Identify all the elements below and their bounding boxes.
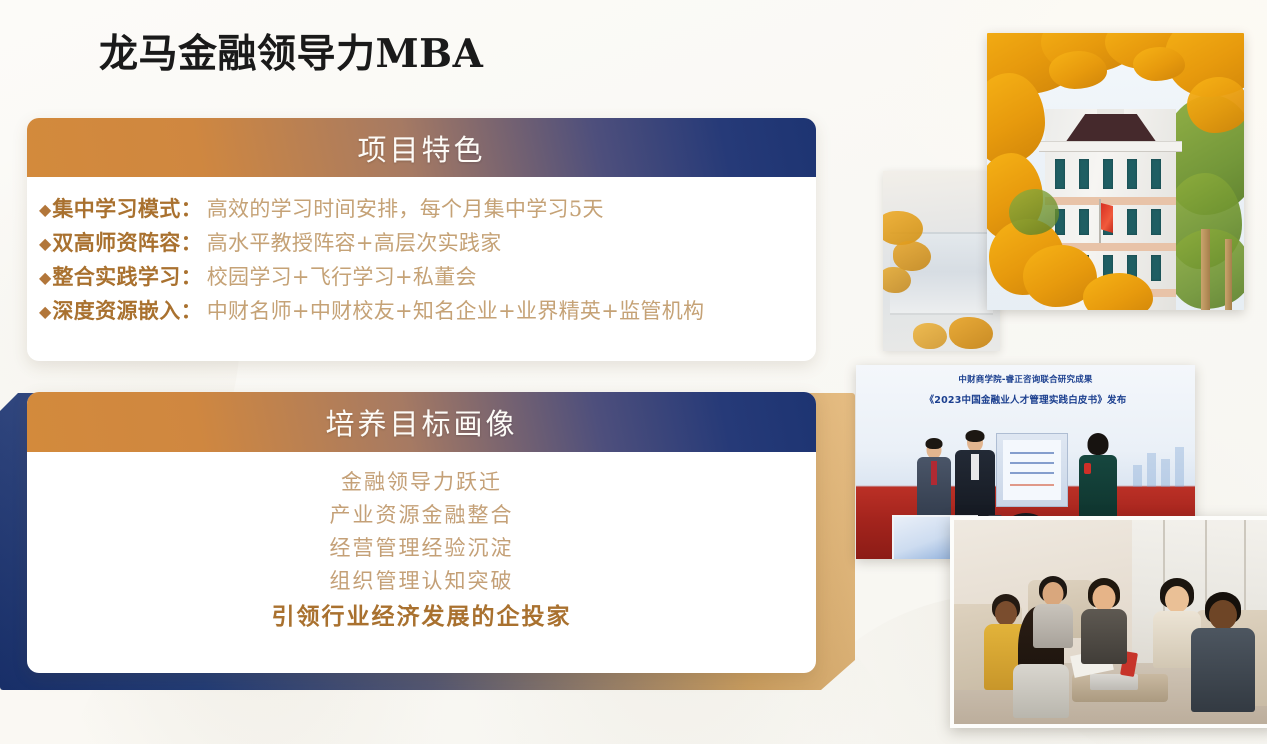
photo-detail: [883, 267, 911, 293]
photo-detail: [1079, 209, 1089, 235]
photo-detail: [1190, 592, 1256, 712]
list-item: ◆ 双高师资阵容 ： 高水平教授阵容+高层次实践家: [27, 227, 816, 261]
card-header-training-goals: 培养目标画像: [27, 392, 816, 452]
photo-detail: [883, 211, 923, 245]
photo-detail: [1099, 199, 1101, 243]
photo-detail: [1101, 203, 1113, 233]
photo-detail: [949, 317, 993, 349]
photo-detail: [1133, 439, 1185, 487]
photo-detail: [1187, 77, 1244, 133]
photo-detail: [1078, 433, 1118, 527]
photo-students-discussion: [950, 516, 1267, 728]
photo-detail: [1049, 51, 1107, 89]
photo-detail: [1080, 578, 1128, 664]
photo-detail: [1039, 141, 1182, 152]
bullet-label: 深度资源嵌入: [52, 295, 180, 325]
diamond-bullet-icon: ◆: [39, 202, 51, 218]
photo-detail: [954, 431, 996, 527]
list-item: ◆ 集中学习模式 ： 高效的学习时间安排，每个月集中学习5天: [27, 193, 816, 227]
slide-canvas: 龙马金融领导力MBA 项目特色 ◆ 集中学习模式 ： 高效的学习时间安排，每个月…: [0, 0, 1267, 744]
bullet-text: 高效的学习时间安排，每个月集中学习5天: [207, 193, 604, 223]
photo-detail: [1133, 47, 1185, 81]
feature-bullet-list: ◆ 集中学习模式 ： 高效的学习时间安排，每个月集中学习5天 ◆ 双高师资阵容 …: [27, 177, 816, 329]
photo-detail: [913, 323, 947, 349]
card-title: 项目特色: [357, 127, 485, 169]
photo-detail: [1201, 229, 1210, 310]
photo-detail: [1003, 440, 1061, 500]
photo-detail: [1151, 159, 1161, 189]
bullet-colon: ：: [181, 261, 202, 291]
card-body-program-features: ◆ 集中学习模式 ： 高效的学习时间安排，每个月集中学习5天 ◆ 双高师资阵容 …: [27, 177, 816, 329]
photo-detail: [1225, 239, 1232, 310]
photo-detail: [1151, 209, 1161, 235]
photo-detail: [1009, 189, 1059, 235]
ceremony-banner-line-2: 《2023中国金融业人才管理实践白皮书》发布: [856, 392, 1195, 406]
photo-detail: [996, 433, 1068, 507]
list-item: ◆ 深度资源嵌入 ： 中财名师+中财校友+知名企业+业界精英+监管机构: [27, 295, 816, 329]
photo-detail: [916, 437, 952, 527]
photo-campus-building: [987, 33, 1244, 310]
bullet-label: 整合实践学习: [52, 261, 180, 291]
diamond-bullet-icon: ◆: [39, 270, 51, 286]
card-header-program-features: 项目特色: [27, 118, 816, 177]
bullet-colon: ：: [181, 227, 202, 257]
bullet-label: 集中学习模式: [52, 193, 180, 223]
page-title: 龙马金融领导力MBA: [99, 28, 483, 81]
list-item-emphasis: 引领行业经济发展的企投家: [27, 598, 816, 636]
card-body-training-goals: 金融领导力跃迁 产业资源金融整合 经营管理经验沉淀 组织管理认知突破 引领行业经…: [27, 452, 816, 636]
photo-detail: [893, 241, 931, 271]
goal-list: 金融领导力跃迁 产业资源金融整合 经营管理经验沉淀 组织管理认知突破 引领行业经…: [27, 452, 816, 636]
bullet-text: 高水平教授阵容+高层次实践家: [207, 227, 502, 257]
ceremony-banner-line-1: 中财商学院-睿正咨询联合研究成果: [856, 373, 1195, 385]
bullet-label: 双高师资阵容: [52, 227, 180, 257]
list-item: 产业资源金融整合: [27, 499, 816, 532]
photo-detail: [1127, 159, 1137, 189]
diamond-bullet-icon: ◆: [39, 236, 51, 252]
photo-detail: [1065, 114, 1157, 143]
photo-detail: [1127, 209, 1137, 235]
bullet-colon: ：: [181, 295, 202, 325]
bullet-text: 中财名师+中财校友+知名企业+业界精英+监管机构: [207, 295, 705, 325]
card-title: 培养目标画像: [325, 401, 517, 443]
bullet-colon: ：: [181, 193, 202, 223]
card-training-goals: 培养目标画像 金融领导力跃迁 产业资源金融整合 经营管理经验沉淀 组织管理认知突…: [27, 392, 816, 673]
list-item: 经营管理经验沉淀: [27, 532, 816, 565]
list-item: ◆ 整合实践学习 ： 校园学习+飞行学习+私董会: [27, 261, 816, 295]
card-program-features: 项目特色 ◆ 集中学习模式 ： 高效的学习时间安排，每个月集中学习5天 ◆ 双高…: [27, 118, 816, 361]
diamond-bullet-icon: ◆: [39, 304, 51, 320]
list-item: 组织管理认知突破: [27, 565, 816, 598]
photo-detail: [1045, 197, 1176, 205]
bullet-text: 校园学习+飞行学习+私董会: [207, 261, 477, 291]
photo-detail: [1032, 576, 1074, 648]
photo-campus-back: [883, 171, 1000, 351]
photo-detail: [1151, 255, 1161, 281]
photo-detail: [1055, 159, 1065, 189]
list-item: 金融领导力跃迁: [27, 466, 816, 499]
photo-detail: [1079, 159, 1089, 189]
photo-detail: [1103, 159, 1113, 189]
